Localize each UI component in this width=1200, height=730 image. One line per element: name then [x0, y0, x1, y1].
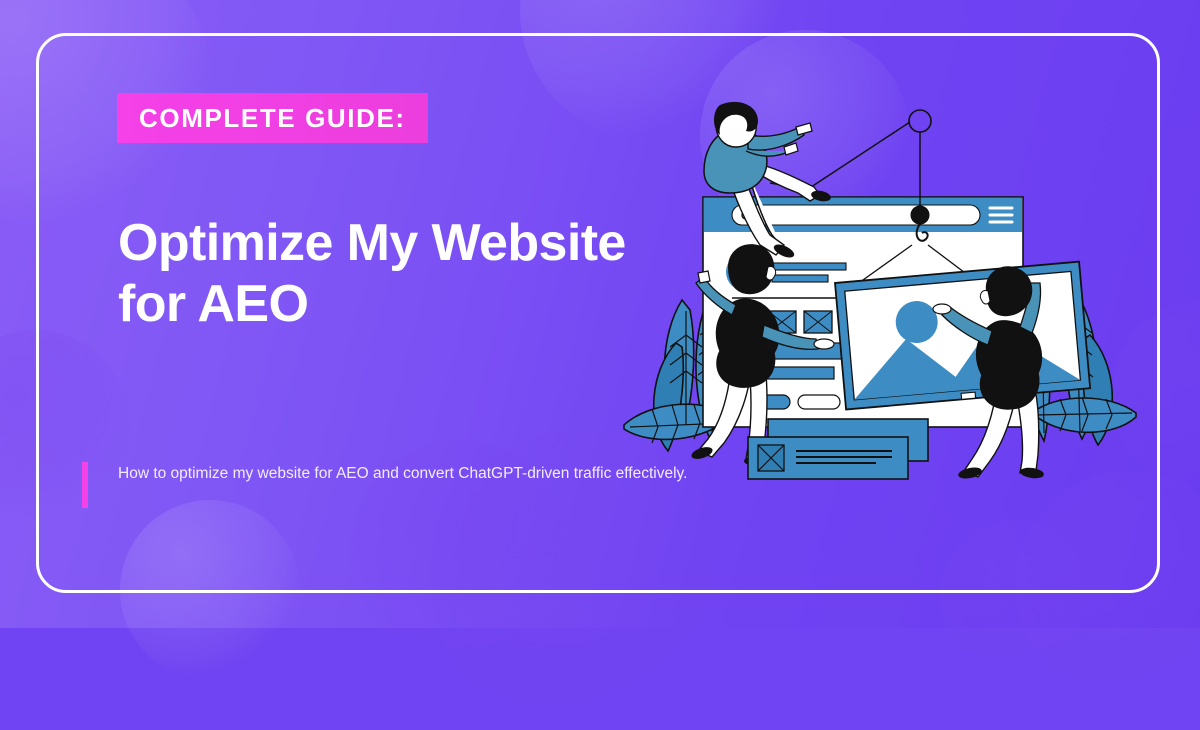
hanging-image-frame	[835, 262, 1090, 410]
card-stack	[748, 419, 928, 479]
hand	[698, 271, 710, 283]
eyebrow-badge: COMPLETE GUIDE:	[117, 93, 428, 143]
pulley-wheel	[909, 110, 931, 132]
subtitle-block: How to optimize my website for AEO and c…	[82, 462, 698, 508]
text-line	[772, 275, 828, 282]
text-content-column: COMPLETE GUIDE: Optimize My Website for …	[0, 0, 700, 628]
hand	[814, 339, 834, 349]
torso	[717, 299, 779, 387]
page-title: Optimize My Website for AEO	[118, 213, 638, 335]
crane-hook	[911, 206, 929, 224]
eyebrow-label: COMPLETE GUIDE:	[139, 103, 406, 134]
crane-rope	[802, 122, 910, 193]
leg-back	[758, 165, 820, 201]
text-line	[772, 263, 846, 270]
hero-illustration	[620, 95, 1140, 515]
subtitle-accent-bar	[82, 462, 88, 508]
subtitle-text: How to optimize my website for AEO and c…	[118, 462, 698, 486]
hand	[796, 123, 812, 135]
pill-button	[798, 395, 840, 409]
background-bubble	[940, 520, 1090, 670]
hand	[933, 304, 951, 314]
